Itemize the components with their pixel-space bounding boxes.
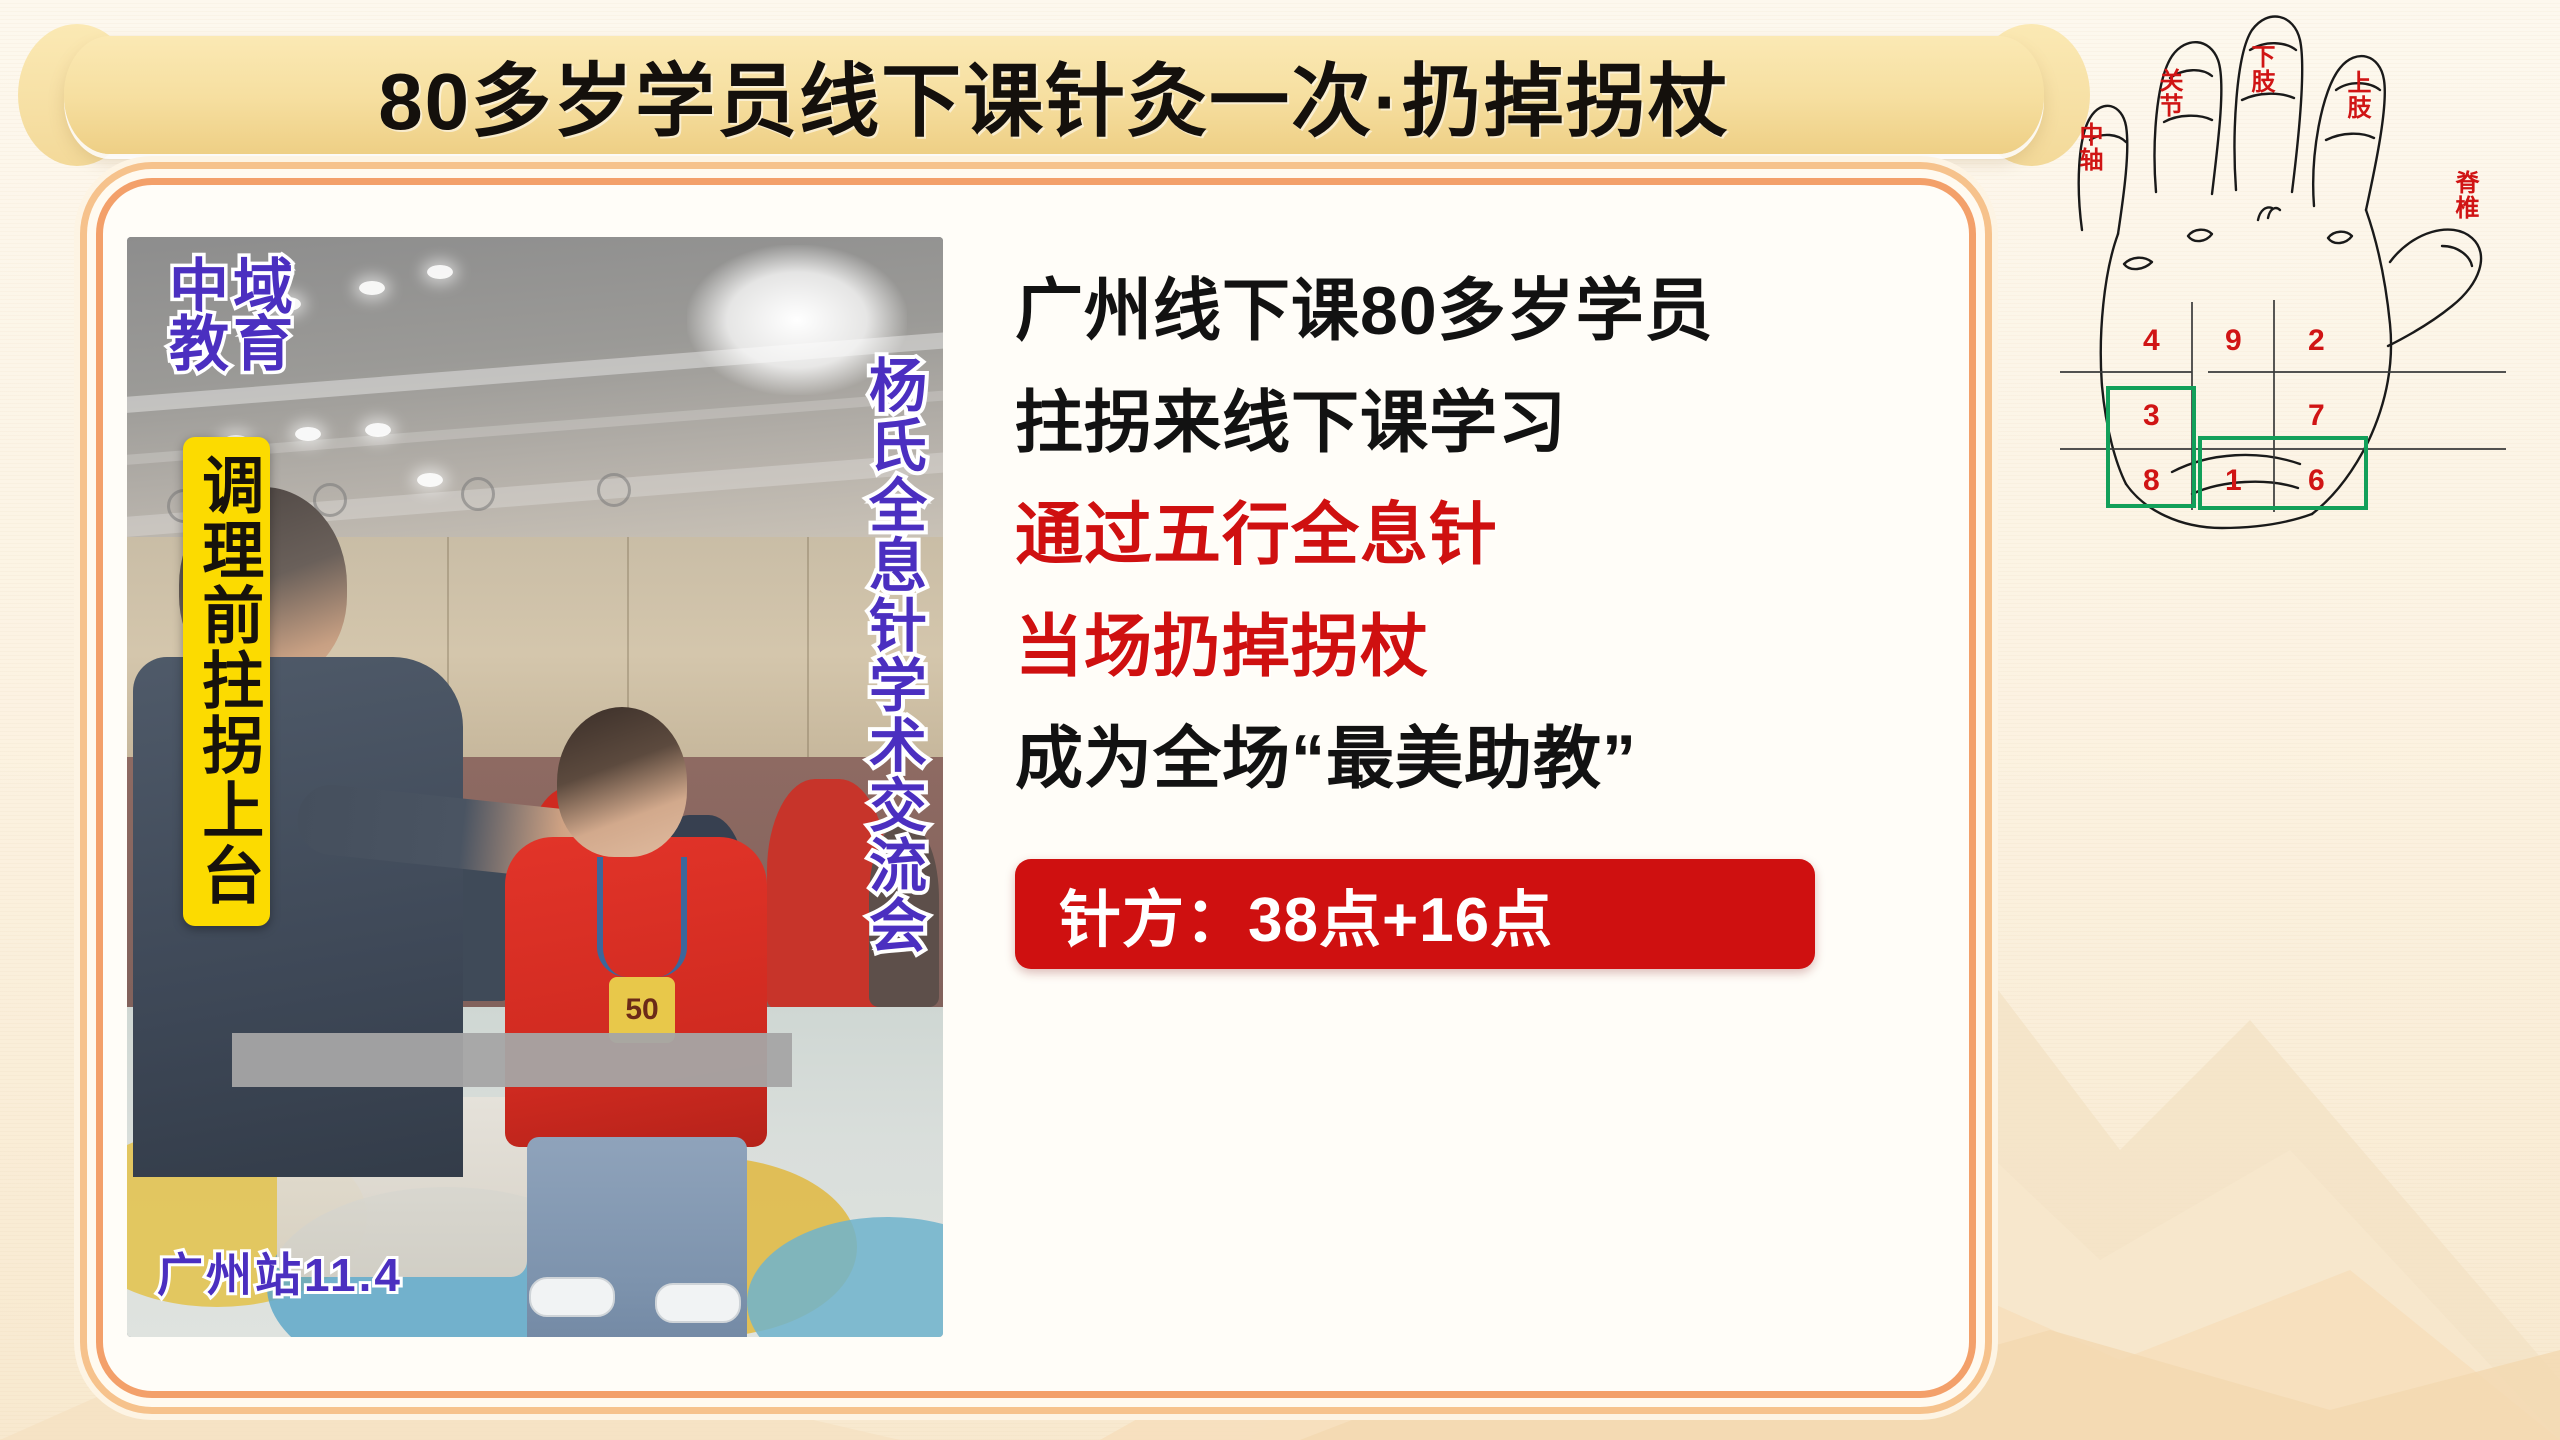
content-line-3: 通过五行全息针	[1015, 501, 1913, 569]
poster-root: 80多岁学员线下课针灸一次·扔掉拐杖	[0, 0, 2560, 1440]
hand-number-1: 1	[2225, 464, 2242, 498]
hand-number-4: 4	[2143, 324, 2160, 358]
hand-diagram: 中轴 关节 下肢 上肢 脊椎 4 9 2 3 7 8 1 6	[2060, 0, 2560, 654]
hand-number-9: 9	[2225, 324, 2242, 358]
hand-label-zhongzhou: 中轴	[2076, 122, 2100, 172]
photo-shoe-left	[529, 1277, 615, 1317]
hand-label-jizhui: 脊椎	[2452, 170, 2476, 220]
content-line-2: 拄拐来线下课学习	[1015, 389, 1913, 457]
photo-blur-bar	[232, 1033, 792, 1087]
title-banner: 80多岁学员线下课针灸一次·扔掉拐杖	[64, 36, 2044, 154]
hand-number-2: 2	[2308, 324, 2325, 358]
hand-number-7: 7	[2308, 399, 2325, 433]
photo-caption: 广州站11.4	[157, 1239, 403, 1305]
prescription-badge-label: 针方：38点+16点	[1059, 869, 1553, 959]
watermark-zhongyu: 中域 教育	[169, 259, 297, 373]
watermark-line-1: 中域	[169, 259, 297, 316]
photo-yellow-label: 调理前拄拐上台	[183, 437, 270, 926]
photo-column: 50 中域 教育 杨氏全息针学术交流会 调理前拄拐上台 广州站11.4	[103, 185, 943, 1391]
photo-lanyard	[597, 857, 687, 977]
main-card: 50 中域 教育 杨氏全息针学术交流会 调理前拄拐上台 广州站11.4	[96, 178, 1976, 1398]
photo-vertical-title: 杨氏全息针学术交流会	[863, 355, 921, 955]
content-line-5: 成为全场“最美助教”	[1015, 725, 1913, 793]
prescription-badge: 针方：38点+16点	[1015, 859, 1815, 969]
hand-label-xiazhi: 下肢	[2248, 44, 2272, 94]
hand-number-6: 6	[2308, 464, 2325, 498]
watermark-line-2: 教育	[169, 316, 297, 373]
hand-number-8: 8	[2143, 464, 2160, 498]
photo-shoe-right	[655, 1283, 741, 1323]
content-line-4: 当场扔掉拐杖	[1015, 613, 1913, 681]
hand-number-3: 3	[2143, 399, 2160, 433]
page-title: 80多岁学员线下课针灸一次·扔掉拐杖	[64, 36, 2044, 154]
hand-label-guanjie: 关节	[2156, 68, 2180, 118]
content-line-1: 广州线下课80多岁学员	[1015, 277, 1913, 345]
photo-student-head	[557, 707, 687, 857]
hand-label-shangzhi: 上肢	[2344, 70, 2368, 120]
content-column: 广州线下课80多岁学员 拄拐来线下课学习 通过五行全息针 当场扔掉拐杖 成为全场…	[943, 185, 1969, 1391]
event-photo: 50 中域 教育 杨氏全息针学术交流会 调理前拄拐上台 广州站11.4	[127, 237, 943, 1337]
